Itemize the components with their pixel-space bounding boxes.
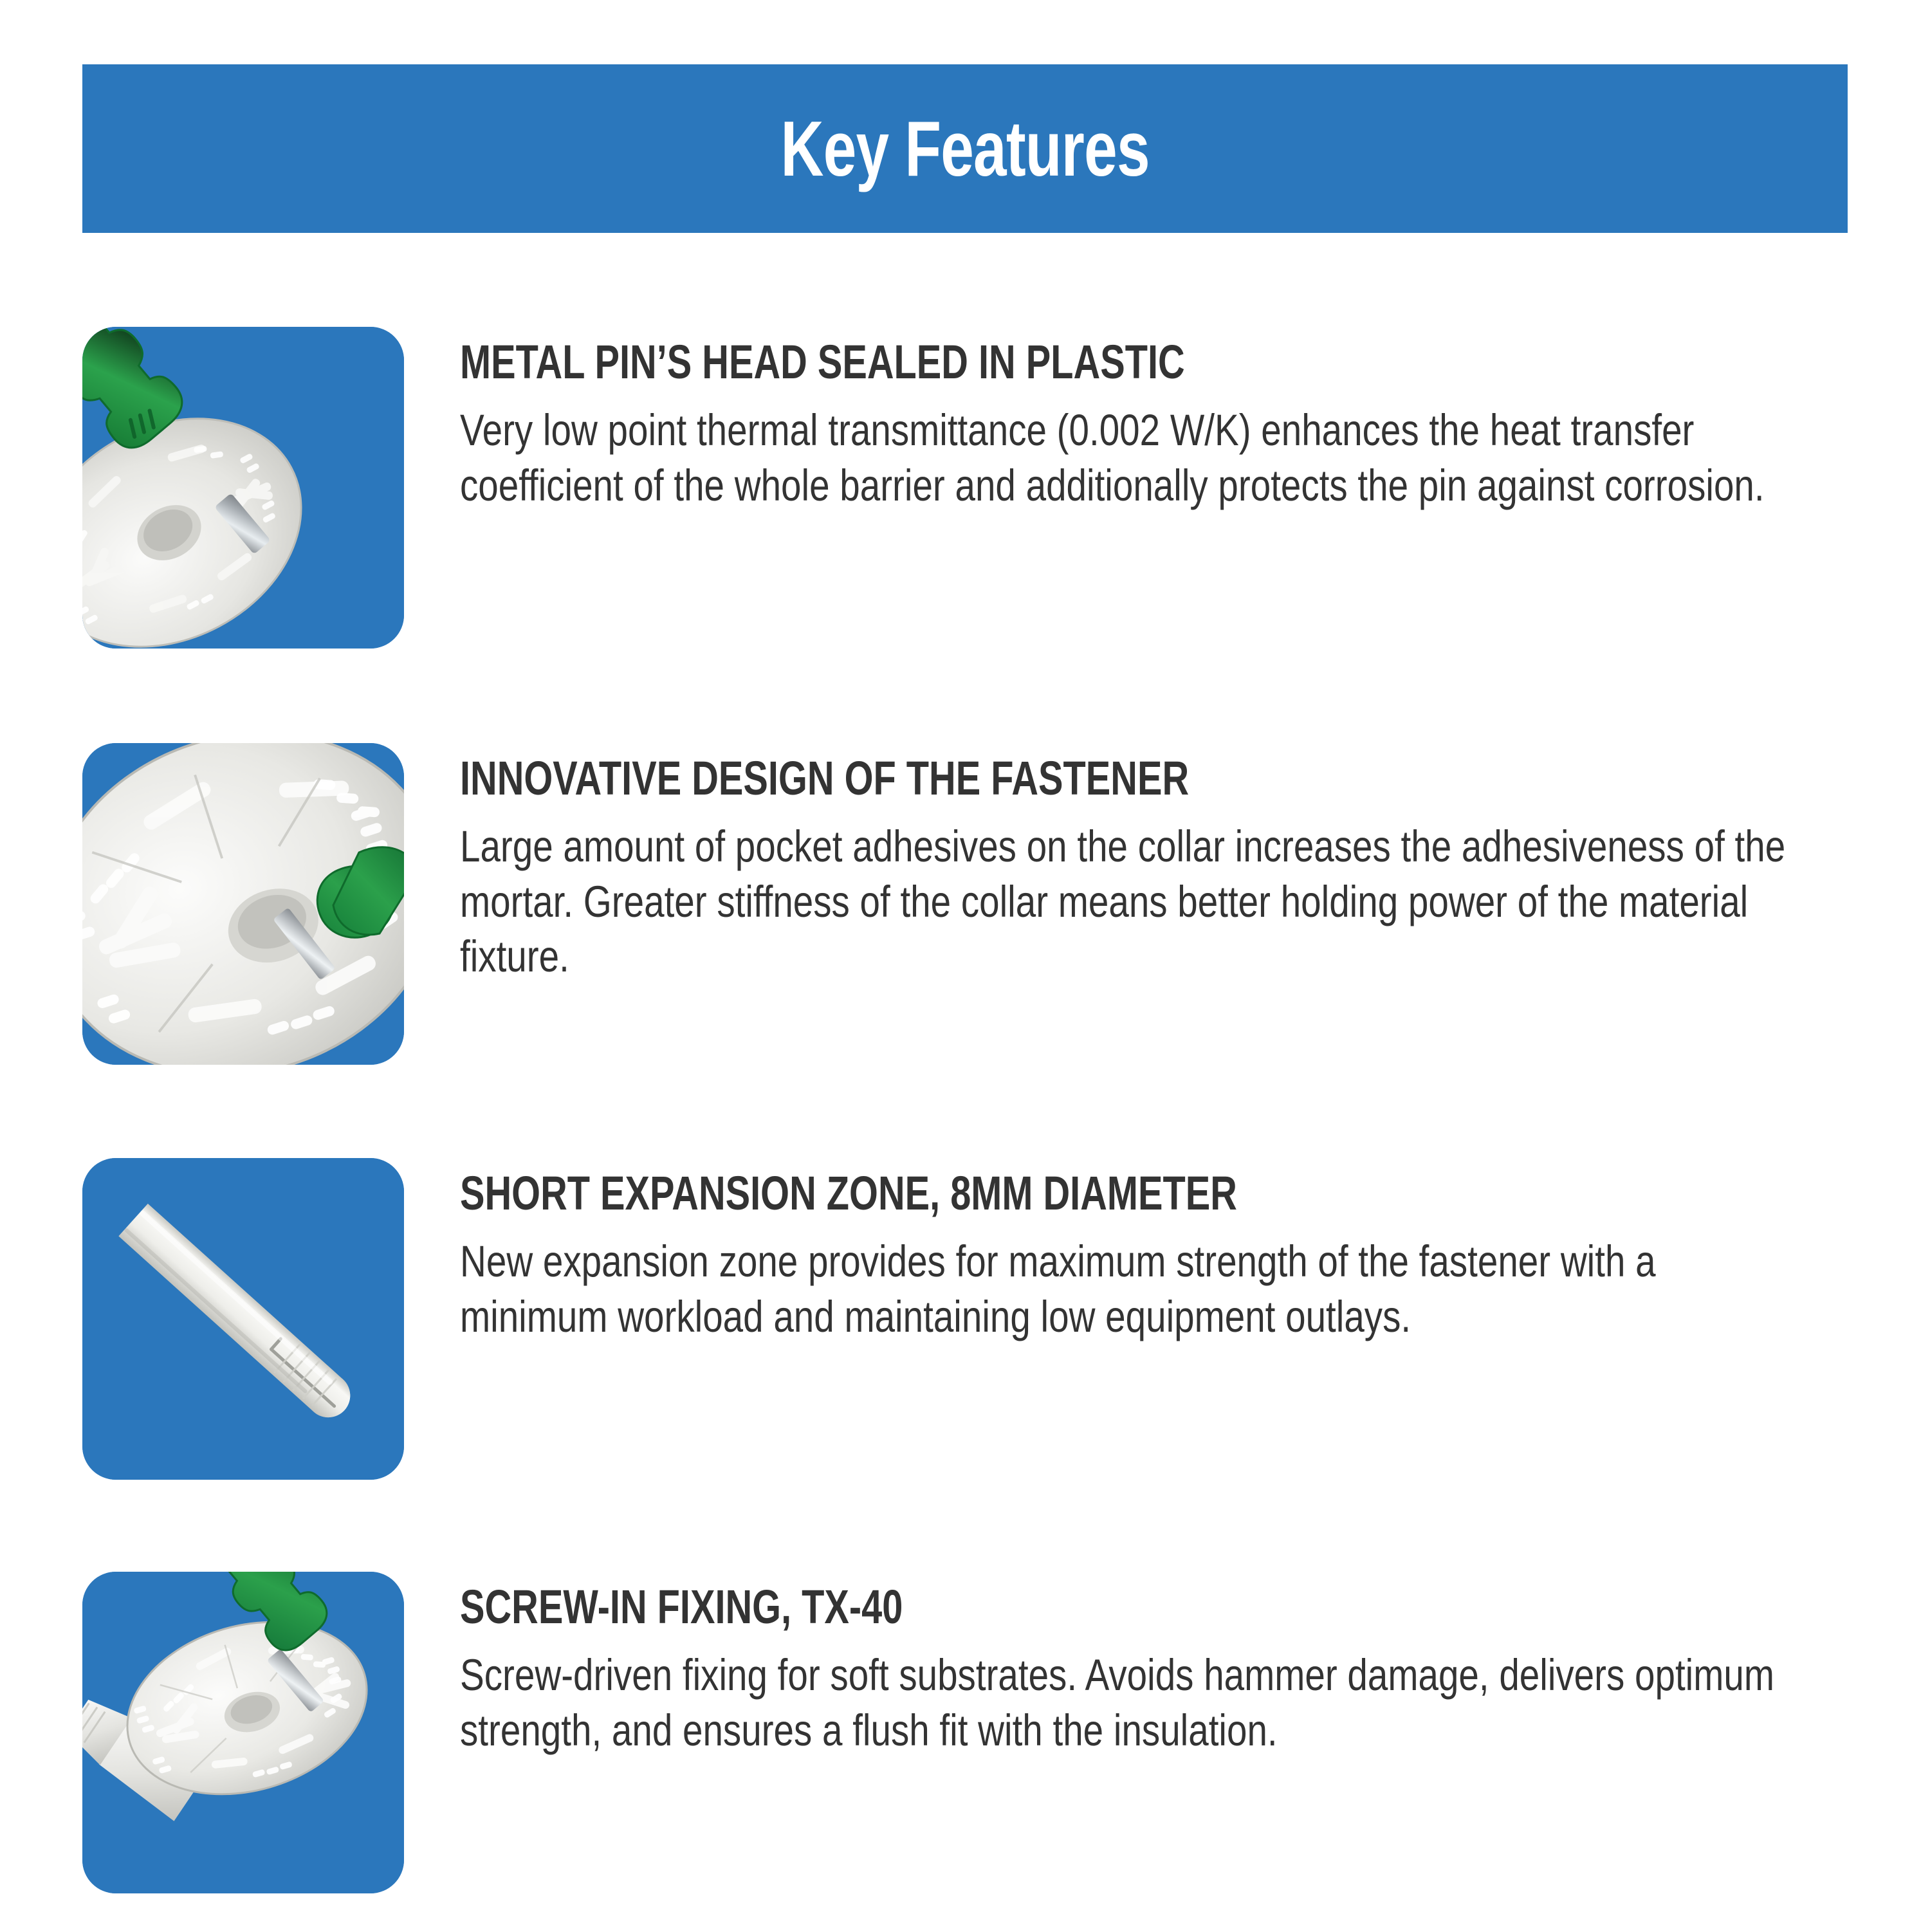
feature-text-block: INNOVATIVE DESIGN OF THE FASTENER Large …	[460, 755, 1817, 984]
feature-text-block: SCREW-IN FIXING, TX-40 Screw-driven fixi…	[460, 1583, 1817, 1758]
feature-title: SCREW-IN FIXING, TX-40	[460, 1583, 1519, 1631]
fastener-collar-closeup-icon	[82, 743, 404, 1065]
feature-icon-tile	[82, 1572, 404, 1893]
feature-icon-tile	[82, 743, 404, 1065]
feature-list: METAL PIN’S HEAD SEALED IN PLASTIC Very …	[0, 0, 1930, 1930]
feature-description: Large amount of pocket adhesives on the …	[460, 819, 1810, 984]
feature-title: METAL PIN’S HEAD SEALED IN PLASTIC	[460, 338, 1519, 386]
feature-text-block: SHORT EXPANSION ZONE, 8MM DIAMETER New e…	[460, 1170, 1817, 1344]
pin-head-sealed-in-plastic-icon	[82, 327, 404, 649]
feature-title: INNOVATIVE DESIGN OF THE FASTENER	[460, 755, 1519, 802]
feature-icon-tile	[82, 1158, 404, 1480]
feature-icon-tile	[82, 327, 404, 649]
expansion-zone-shaft-icon	[82, 1158, 404, 1480]
screw-in-fixing-assembly-icon	[82, 1572, 404, 1893]
key-features-infographic: Key Features	[0, 0, 1930, 1930]
feature-title: SHORT EXPANSION ZONE, 8MM DIAMETER	[460, 1170, 1519, 1217]
feature-item: METAL PIN’S HEAD SEALED IN PLASTIC Very …	[82, 327, 1852, 687]
feature-description: Very low point thermal transmittance (0.…	[460, 403, 1810, 513]
feature-text-block: METAL PIN’S HEAD SEALED IN PLASTIC Very …	[460, 338, 1817, 513]
feature-item: SCREW-IN FIXING, TX-40 Screw-driven fixi…	[82, 1572, 1852, 1932]
feature-item: SHORT EXPANSION ZONE, 8MM DIAMETER New e…	[82, 1158, 1852, 1518]
feature-item: INNOVATIVE DESIGN OF THE FASTENER Large …	[82, 743, 1852, 1103]
feature-description: New expansion zone provides for maximum …	[460, 1234, 1810, 1344]
feature-description: Screw-driven fixing for soft substrates.…	[460, 1648, 1810, 1758]
